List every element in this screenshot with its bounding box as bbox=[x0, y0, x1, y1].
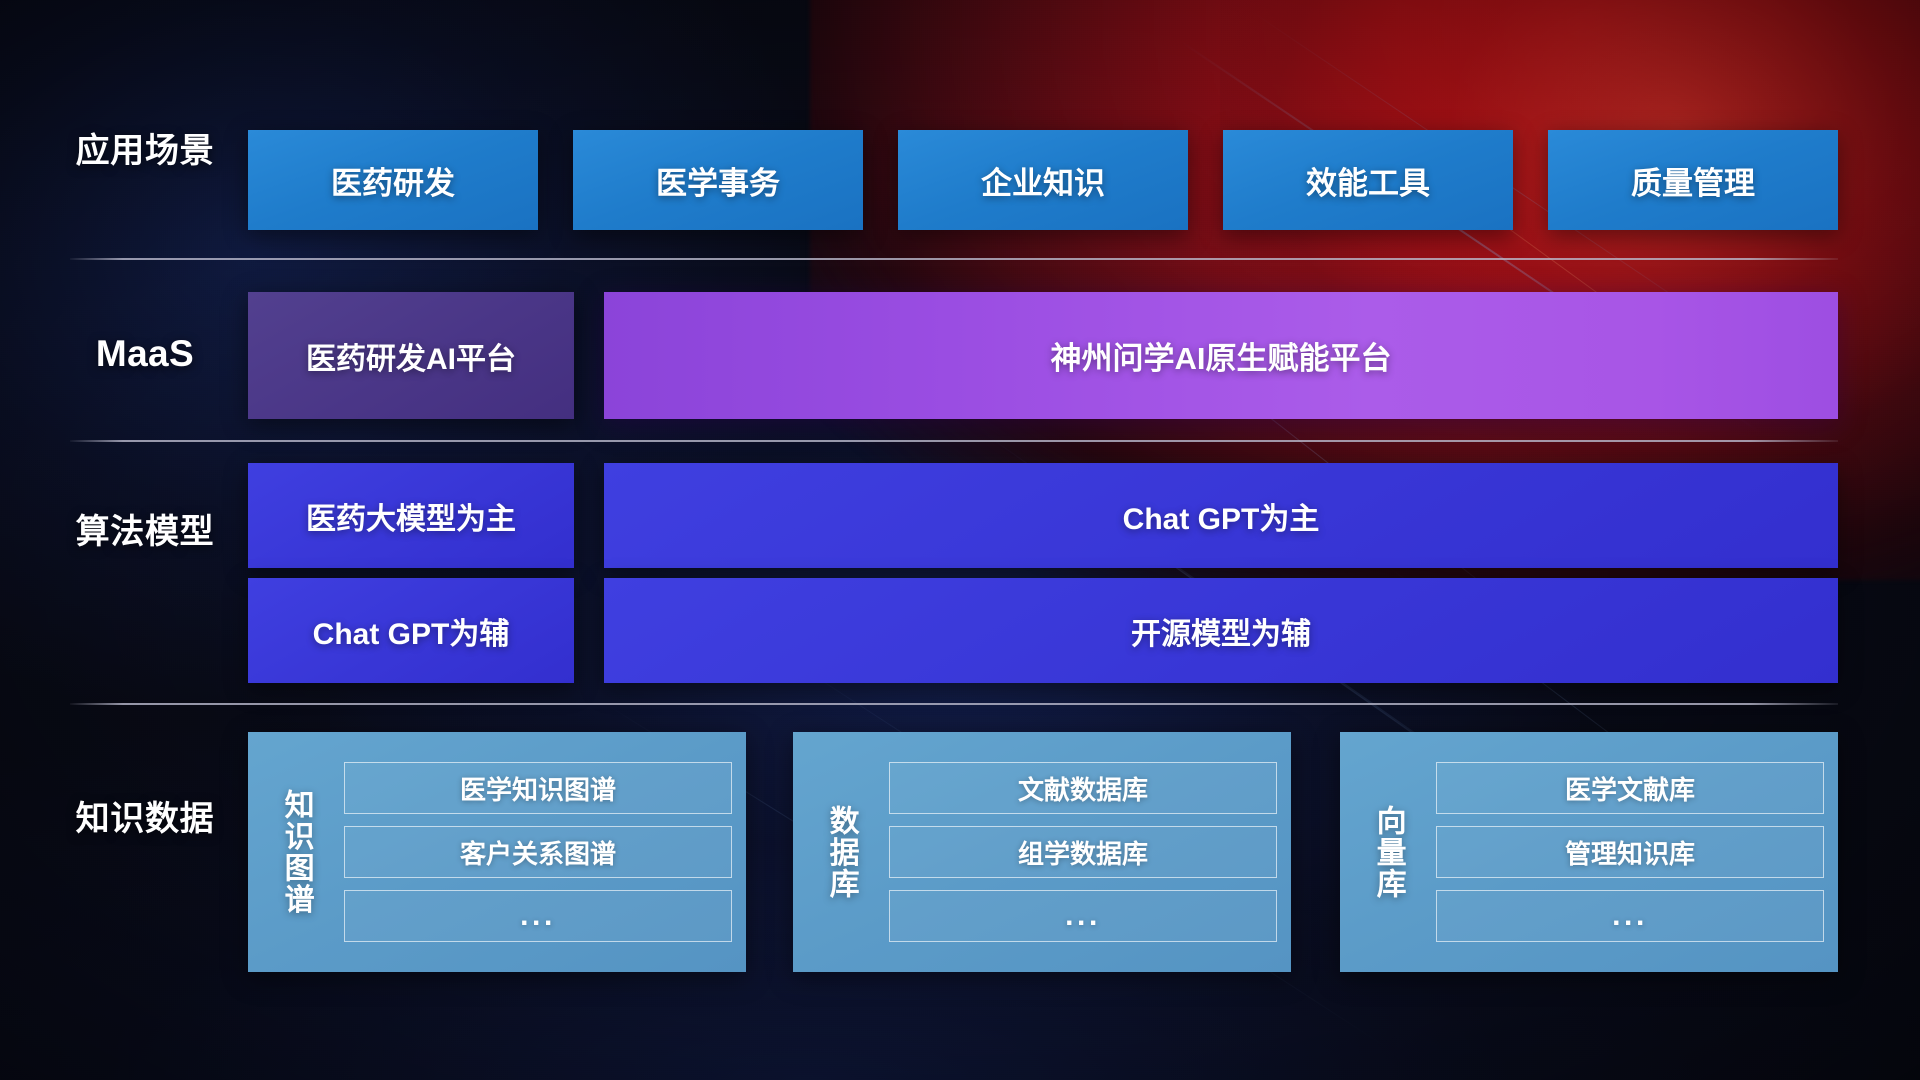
knowledge-item-list: 医学文献库 管理知识库 ... bbox=[1436, 746, 1824, 958]
knowledge-group-database[interactable]: 数据库 文献数据库 组学数据库 ... bbox=[793, 732, 1291, 972]
knowledge-item-more[interactable]: ... bbox=[344, 890, 732, 942]
maas-card-label: 医药研发AI平台 bbox=[306, 334, 516, 378]
separator-tier3-tier4 bbox=[70, 703, 1838, 705]
knowledge-item-more[interactable]: ... bbox=[889, 890, 1277, 942]
maas-card-medicine-ai-platform[interactable]: 医药研发AI平台 bbox=[248, 292, 574, 419]
algo-card-medicine-llm-primary[interactable]: 医药大模型为主 bbox=[248, 463, 574, 568]
tier-label-algorithm-model: 算法模型 bbox=[70, 513, 220, 552]
maas-card-shenzhou-wenxue-platform[interactable]: 神州问学AI原生赋能平台 bbox=[604, 292, 1838, 419]
algo-card-label: 医药大模型为主 bbox=[306, 494, 516, 538]
stack-diagram: 应用场景 医药研发 医学事务 企业知识 效能工具 质量管理 MaaS 医药研发A… bbox=[0, 0, 1920, 1080]
separator-tier1-tier2 bbox=[70, 258, 1838, 260]
knowledge-item[interactable]: 文献数据库 bbox=[889, 762, 1277, 814]
knowledge-item[interactable]: 组学数据库 bbox=[889, 826, 1277, 878]
knowledge-group-label: 向量库 bbox=[1340, 746, 1436, 958]
app-card-label: 医学事务 bbox=[656, 158, 780, 203]
knowledge-group-vector-store[interactable]: 向量库 医学文献库 管理知识库 ... bbox=[1340, 732, 1838, 972]
algo-card-chatgpt-primary[interactable]: Chat GPT为主 bbox=[604, 463, 1838, 568]
app-card-efficiency-tools[interactable]: 效能工具 bbox=[1223, 130, 1513, 230]
app-card-enterprise-knowledge[interactable]: 企业知识 bbox=[898, 130, 1188, 230]
knowledge-group-label: 知识图谱 bbox=[248, 746, 344, 958]
app-card-label: 医药研发 bbox=[331, 158, 455, 203]
maas-card-label: 神州问学AI原生赋能平台 bbox=[1051, 333, 1392, 378]
knowledge-item-list: 文献数据库 组学数据库 ... bbox=[889, 746, 1277, 958]
app-card-label: 效能工具 bbox=[1306, 158, 1430, 203]
app-card-label: 质量管理 bbox=[1631, 158, 1755, 203]
knowledge-item[interactable]: 医学知识图谱 bbox=[344, 762, 732, 814]
tier-label-maas: MaaS bbox=[70, 333, 220, 375]
knowledge-item-list: 医学知识图谱 客户关系图谱 ... bbox=[344, 746, 732, 958]
tier-label-knowledge-data: 知识数据 bbox=[70, 800, 220, 839]
algo-card-chatgpt-secondary[interactable]: Chat GPT为辅 bbox=[248, 578, 574, 683]
app-card-medicine-rnd[interactable]: 医药研发 bbox=[248, 130, 538, 230]
knowledge-group-label: 数据库 bbox=[793, 746, 889, 958]
knowledge-item[interactable]: 医学文献库 bbox=[1436, 762, 1824, 814]
tier-label-application-scenarios: 应用场景 bbox=[70, 132, 220, 171]
knowledge-item[interactable]: 管理知识库 bbox=[1436, 826, 1824, 878]
knowledge-group-knowledge-graph[interactable]: 知识图谱 医学知识图谱 客户关系图谱 ... bbox=[248, 732, 746, 972]
algo-card-opensource-secondary[interactable]: 开源模型为辅 bbox=[604, 578, 1838, 683]
separator-tier2-tier3 bbox=[70, 440, 1838, 442]
app-card-label: 企业知识 bbox=[981, 158, 1105, 203]
app-card-quality-management[interactable]: 质量管理 bbox=[1548, 130, 1838, 230]
algo-card-label: Chat GPT为辅 bbox=[313, 609, 510, 653]
algo-card-label: Chat GPT为主 bbox=[1123, 494, 1320, 538]
knowledge-item-more[interactable]: ... bbox=[1436, 890, 1824, 942]
app-card-medical-affairs[interactable]: 医学事务 bbox=[573, 130, 863, 230]
algo-card-label: 开源模型为辅 bbox=[1131, 609, 1311, 653]
knowledge-item[interactable]: 客户关系图谱 bbox=[344, 826, 732, 878]
